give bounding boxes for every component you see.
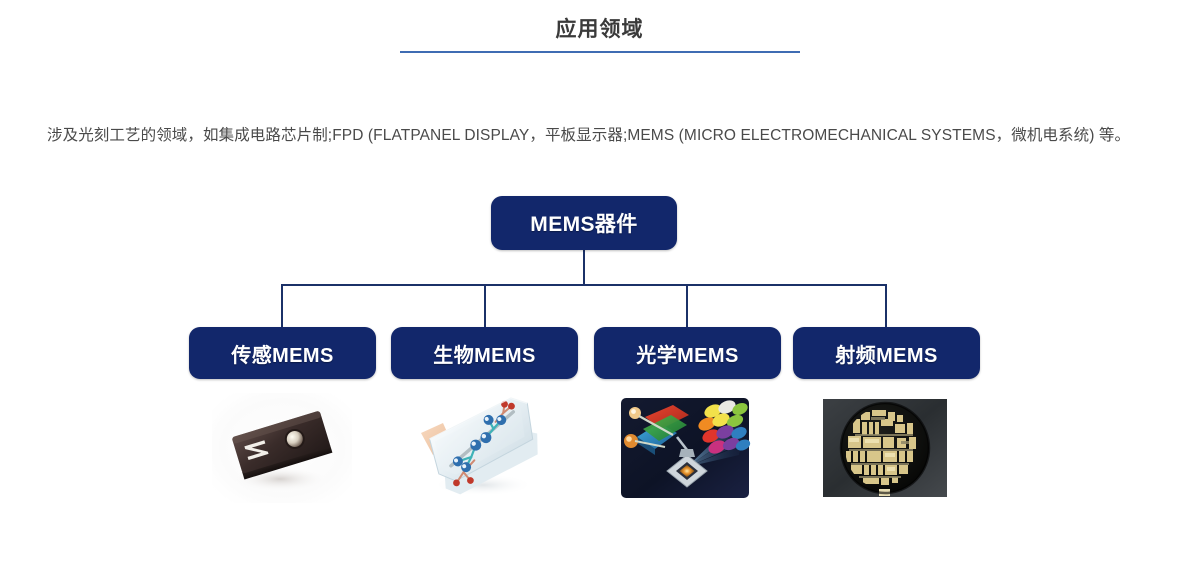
connector-root-vertical: [583, 250, 585, 284]
node-bio-mems[interactable]: 生物MEMS: [391, 327, 578, 379]
node-root-label: MEMS器件: [530, 208, 637, 238]
intro-paragraph: 涉及光刻工艺的领域，如集成电路芯片制;FPD (FLATPANEL DISPLA…: [47, 121, 1152, 150]
node-sensor-mems-label: 传感MEMS: [231, 339, 333, 368]
node-optical-mems-label: 光学MEMS: [636, 339, 738, 368]
mems-org-chart: MEMS器件 传感MEMS 生物MEMS 光学MEMS 射频MEMS: [0, 180, 1199, 520]
connector-drop-0: [281, 284, 283, 327]
page-header: 应用领域: [0, 0, 1199, 70]
connector-drop-2: [686, 284, 688, 327]
page-title: 应用领域: [0, 17, 1199, 43]
optical-mems-micromirror-photo: [615, 393, 755, 503]
connector-drop-3: [885, 284, 887, 327]
sensor-mems-chip-photo: [212, 393, 352, 503]
node-optical-mems[interactable]: 光学MEMS: [594, 327, 781, 379]
bio-mems-biochip-photo: [413, 393, 553, 503]
node-rf-mems[interactable]: 射频MEMS: [793, 327, 980, 379]
title-underline-rule: [400, 51, 800, 53]
node-sensor-mems[interactable]: 传感MEMS: [189, 327, 376, 379]
node-rf-mems-label: 射频MEMS: [835, 339, 937, 368]
connector-horizontal-bus: [281, 284, 887, 286]
rf-mems-wafer-photo: [815, 393, 955, 503]
node-root-mems-device[interactable]: MEMS器件: [491, 196, 677, 250]
connector-drop-1: [484, 284, 486, 327]
node-bio-mems-label: 生物MEMS: [433, 339, 535, 368]
